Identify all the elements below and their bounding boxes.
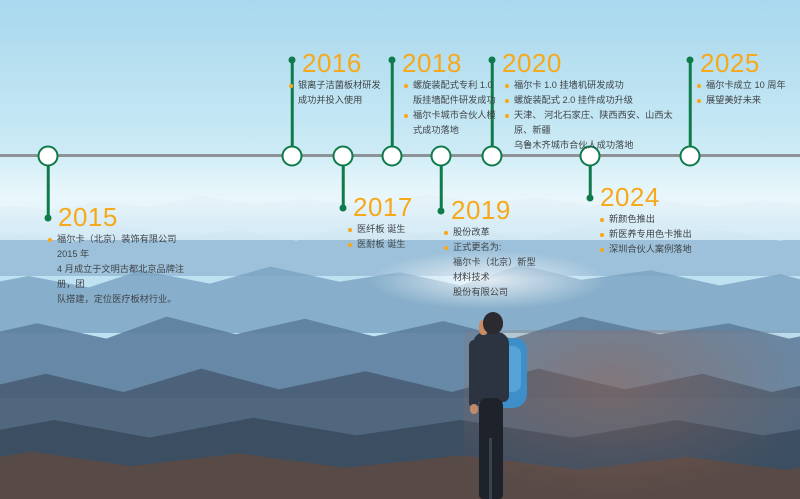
- milestone-bullet-continuation: 式成功落地: [404, 123, 500, 138]
- milestone-bullet: 正式更名为:: [444, 240, 536, 255]
- year-label-2025: 2025: [700, 50, 760, 76]
- hiker-figure: [455, 312, 545, 499]
- milestone-bullet-continuation: 4 月成立于文明古都北京品牌注册，团: [48, 262, 198, 292]
- milestone-bullet: 展望美好未来: [697, 93, 795, 108]
- timeline-node-2025[interactable]: [680, 146, 701, 167]
- timeline-infographic: 2015福尔卡（北京）装饰有限公司 2015 年4 月成立于文明古都北京品牌注册…: [0, 0, 800, 499]
- milestone-bullet: 福尔卡（北京）装饰有限公司 2015 年: [48, 232, 198, 262]
- milestone-bullet: 银离子洁菌板材研发: [289, 78, 385, 93]
- hiker-leg-gap: [489, 438, 492, 499]
- milestone-text-2025: 福尔卡成立 10 周年展望美好未来: [697, 78, 795, 108]
- milestone-bullet-continuation: 队搭建，定位医疗板材行业。: [48, 292, 198, 307]
- milestone-bullet: 螺旋装配式 2.0 挂件成功升级: [505, 93, 680, 108]
- milestone-text-2018: 螺旋装配式专利 1.0版挂墙配件研发成功福尔卡城市合伙人模式成功落地: [404, 78, 500, 138]
- year-label-2019: 2019: [451, 197, 511, 223]
- year-label-2020: 2020: [502, 50, 562, 76]
- timeline-stem-dot-2015: [45, 215, 52, 222]
- milestone-bullet: 新颜色推出: [600, 212, 710, 227]
- timeline-stem-dot-2020: [489, 57, 496, 64]
- timeline-stem-dot-2018: [389, 57, 396, 64]
- timeline-stem-dot-2017: [340, 205, 347, 212]
- timeline-node-2015[interactable]: [38, 146, 59, 167]
- hiker-head: [483, 312, 503, 334]
- milestone-bullet: 天津、 河北石家庄、陕西西安、山西太原、新疆: [505, 108, 680, 138]
- milestone-text-2019: 股份改革正式更名为:福尔卡（北京）新型材料技术股份有限公司: [444, 225, 536, 300]
- milestone-text-2016: 银离子洁菌板材研发成功并投入使用: [289, 78, 385, 108]
- timeline-node-2020[interactable]: [482, 146, 503, 167]
- timeline-node-2018[interactable]: [382, 146, 403, 167]
- timeline-node-2016[interactable]: [282, 146, 303, 167]
- milestone-text-2024: 新颜色推出新医养专用色卡推出深圳合伙人案例落地: [600, 212, 710, 257]
- milestone-bullet: 股份改革: [444, 225, 536, 240]
- milestone-text-2020: 福尔卡 1.0 挂墙机研发成功螺旋装配式 2.0 挂件成功升级天津、 河北石家庄…: [505, 78, 680, 153]
- milestone-bullet: 医纤板 诞生: [348, 222, 428, 237]
- milestone-text-2017: 医纤板 诞生医耐板 诞生: [348, 222, 428, 252]
- timeline-stem-dot-2016: [289, 57, 296, 64]
- year-label-2017: 2017: [353, 194, 413, 220]
- milestone-bullet-continuation: 乌鲁木齐城市合伙人成功落地: [505, 138, 680, 153]
- timeline-stem-2016: [291, 60, 294, 156]
- milestone-bullet-continuation: 股份有限公司: [444, 285, 536, 300]
- timeline-stem-dot-2025: [687, 57, 694, 64]
- milestone-bullet-continuation: 福尔卡（北京）新型材料技术: [444, 255, 536, 285]
- milestone-bullet: 新医养专用色卡推出: [600, 227, 710, 242]
- year-label-2015: 2015: [58, 204, 118, 230]
- milestone-bullet: 深圳合伙人案例落地: [600, 242, 710, 257]
- milestone-bullet: 福尔卡成立 10 周年: [697, 78, 795, 93]
- milestone-bullet: 医耐板 诞生: [348, 237, 428, 252]
- timeline-stem-dot-2024: [587, 195, 594, 202]
- timeline-stem-2018: [391, 60, 394, 156]
- timeline-node-2017[interactable]: [333, 146, 354, 167]
- timeline-node-2019[interactable]: [431, 146, 452, 167]
- year-label-2018: 2018: [402, 50, 462, 76]
- milestone-bullet-continuation: 版挂墙配件研发成功: [404, 93, 500, 108]
- hiker-arm: [469, 340, 479, 408]
- timeline-stem-2025: [689, 60, 692, 156]
- milestone-bullet-continuation: 成功并投入使用: [289, 93, 385, 108]
- milestone-bullet: 螺旋装配式专利 1.0: [404, 78, 500, 93]
- year-label-2024: 2024: [600, 184, 660, 210]
- year-label-2016: 2016: [302, 50, 362, 76]
- hiker-hand: [470, 404, 478, 414]
- milestone-bullet: 福尔卡城市合伙人模: [404, 108, 500, 123]
- milestone-bullet: 福尔卡 1.0 挂墙机研发成功: [505, 78, 680, 93]
- timeline-stem-dot-2019: [438, 208, 445, 215]
- milestone-text-2015: 福尔卡（北京）装饰有限公司 2015 年4 月成立于文明古都北京品牌注册，团队搭…: [48, 232, 198, 307]
